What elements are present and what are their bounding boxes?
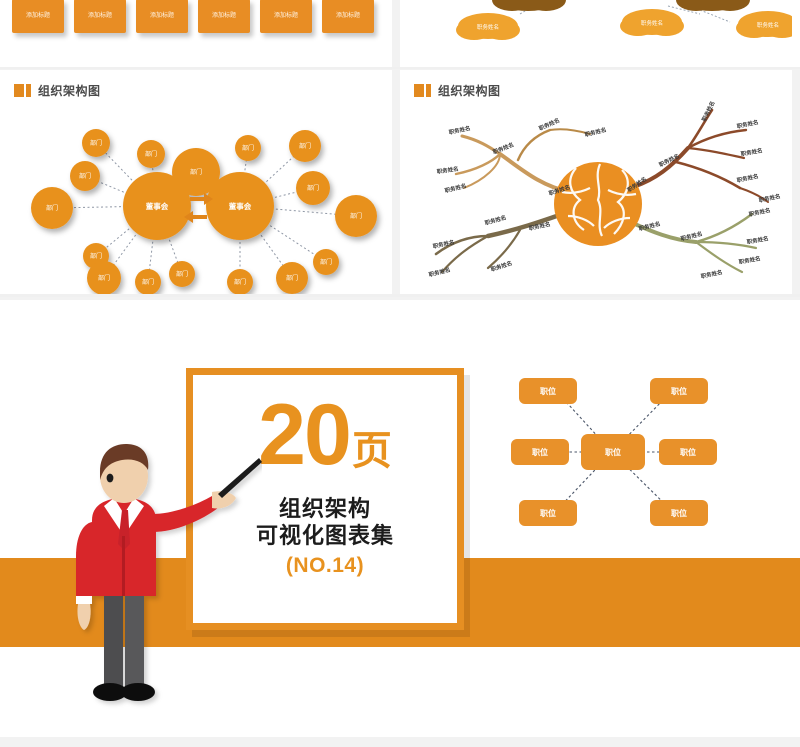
folder-body: 添加标题 [260, 0, 312, 33]
folder-body: 添加标题 [12, 0, 64, 33]
cover-title-line1: 组织架构 [279, 495, 371, 523]
page-count-number: 20 [258, 395, 350, 477]
slide-main-cover[interactable]: 职位 职位 职位 职位 职位 职位 职位 20 页 组织架构 可视化图表集 (N… [0, 300, 800, 737]
folder-body-label: 添加标题 [212, 13, 236, 19]
trousers-left [104, 590, 123, 688]
folder-card[interactable]: 部门 添加标题 [12, 0, 64, 46]
branch-label: 职务姓名 [740, 146, 763, 158]
cloud-node-label: 职务姓名 [516, 0, 540, 1]
branch-label: 职务姓名 [700, 268, 723, 280]
node-label: 部门 [350, 212, 362, 220]
node-label: 部门 [142, 278, 154, 286]
slide-thumb-org-network[interactable]: 组织架构图 [0, 70, 392, 294]
node-label: 部门 [242, 144, 254, 152]
folder-card[interactable]: 部门 添加标题 [136, 0, 188, 46]
folder-body-label: 添加标题 [88, 13, 112, 19]
arm-right [152, 496, 218, 532]
folder-card[interactable]: 部门 添加标题 [260, 0, 312, 46]
node-label: 部门 [299, 142, 311, 150]
node-label: 部门 [234, 278, 246, 286]
thumbnail-strip-middle: 组织架构图 [0, 70, 800, 294]
folder-body: 添加标题 [136, 0, 188, 33]
position-node-label: 职位 [671, 508, 687, 518]
branch-label: 职务姓名 [490, 259, 513, 273]
org-network-graphic: 董事会 董事会 部门 部门 部门 部门 部门 部门 部门 部门 部门 部门 部门… [0, 96, 392, 294]
presenter-illustration [52, 440, 262, 715]
cover-edition-label: (NO.14) [286, 554, 364, 578]
branch-label: 职务姓名 [484, 213, 507, 227]
cloud-node-label: 职务姓名 [700, 0, 724, 1]
branch-label: 职务姓名 [428, 266, 451, 279]
cloud-node-label: 职务姓名 [641, 19, 663, 27]
cloud-node-group: 职务姓名 职务姓名 职务姓名 职务姓名 职务姓名 [456, 0, 792, 40]
cloud-node-label: 职务姓名 [757, 21, 779, 29]
eye [107, 474, 114, 483]
thumb-divider [392, 0, 400, 68]
node-label: 部门 [79, 172, 91, 180]
jacket-seam [122, 536, 125, 596]
position-node-label: 职位 [540, 508, 556, 518]
node-label: 部门 [320, 258, 332, 266]
thumbnail-strip-top: 部门 添加标题 部门 添加标题 部门 添加标题 部门 添加标题 部门 添加标 [0, 0, 800, 68]
branch-label: 职务姓名 [738, 254, 761, 266]
section-divider [0, 294, 800, 297]
node-label: 部门 [190, 168, 202, 176]
folder-body-label: 添加标题 [274, 13, 298, 19]
folder-body-label: 添加标题 [26, 13, 50, 19]
position-hub-diagram: 职位 职位 职位 职位 职位 职位 职位 [495, 370, 730, 535]
folder-card[interactable]: 部门 添加标题 [322, 0, 374, 46]
position-node-label: 职位 [671, 386, 687, 396]
hub-label: 董事会 [146, 201, 169, 211]
branch-label: 职务姓名 [448, 124, 471, 136]
cuff-left [76, 596, 92, 604]
arm-left [76, 522, 92, 598]
folder-body-label: 添加标题 [336, 13, 360, 19]
folder-card[interactable]: 部门 添加标题 [198, 0, 250, 46]
node-label: 部门 [286, 274, 298, 282]
branch-label: 职务姓名 [758, 192, 781, 204]
node-label: 部门 [46, 204, 58, 212]
presentation-preview-page: 部门 添加标题 部门 添加标题 部门 添加标题 部门 添加标题 部门 添加标 [0, 0, 800, 747]
folder-card[interactable]: 部门 添加标题 [74, 0, 126, 46]
position-node-label: 职位 [540, 386, 556, 396]
brain-mindmap-graphic: 职务姓名 职务姓名 职务姓名 职务姓名 职务姓名 职务姓名 职务姓名 职务姓名 … [400, 96, 792, 294]
folder-body-label: 添加标题 [150, 13, 174, 19]
strip-divider [0, 67, 800, 69]
position-node-label: 职位 [680, 447, 696, 457]
node-label: 部门 [176, 270, 188, 278]
branch-label: 职务姓名 [736, 172, 759, 184]
branch-label: 职务姓名 [746, 234, 769, 246]
slide-thumb-brain-map[interactable]: 组织架构图 [400, 70, 792, 294]
page-count-block: 20 页 [258, 395, 392, 477]
branch-label: 职务姓名 [748, 206, 771, 218]
folder-card-group: 部门 添加标题 部门 添加标题 部门 添加标题 部门 添加标题 部门 添加标 [12, 0, 374, 46]
branch-label: 职务姓名 [444, 182, 467, 195]
folder-body: 添加标题 [322, 0, 374, 33]
branch-label: 职务姓名 [736, 118, 759, 130]
cover-title-line2: 可视化图表集 [256, 522, 394, 550]
slide-thumb-folder-cards[interactable]: 部门 添加标题 部门 添加标题 部门 添加标题 部门 添加标题 部门 添加标 [0, 0, 392, 68]
node-label: 部门 [307, 184, 319, 192]
cloud-node-label: 职务姓名 [477, 23, 499, 31]
page-count-unit: 页 [352, 431, 392, 471]
position-center-label: 职位 [605, 447, 621, 457]
branch-label: 职务姓名 [700, 99, 717, 122]
hand-left [77, 604, 90, 630]
trousers-right [125, 590, 144, 688]
cloud-mindmap-graphic: 职务姓名 职务姓名 职务姓名 职务姓名 职务姓名 [400, 0, 792, 68]
branch-label: 职务姓名 [492, 140, 515, 156]
shoe-right [121, 683, 155, 701]
pointer-stick [218, 458, 262, 498]
node-label: 部门 [145, 150, 157, 158]
position-node-label: 职位 [532, 447, 548, 457]
node-label: 部门 [90, 252, 102, 260]
node-label: 部门 [98, 274, 110, 282]
node-label: 部门 [90, 139, 102, 147]
hub-label: 董事会 [229, 201, 252, 211]
slide-divider [392, 70, 400, 294]
branch-label: 职务姓名 [584, 126, 607, 139]
brain-icon [554, 162, 642, 246]
folder-body: 添加标题 [198, 0, 250, 33]
folder-body: 添加标题 [74, 0, 126, 33]
slide-thumb-cloud-map[interactable]: 职务姓名 职务姓名 职务姓名 职务姓名 职务姓名 [400, 0, 792, 68]
